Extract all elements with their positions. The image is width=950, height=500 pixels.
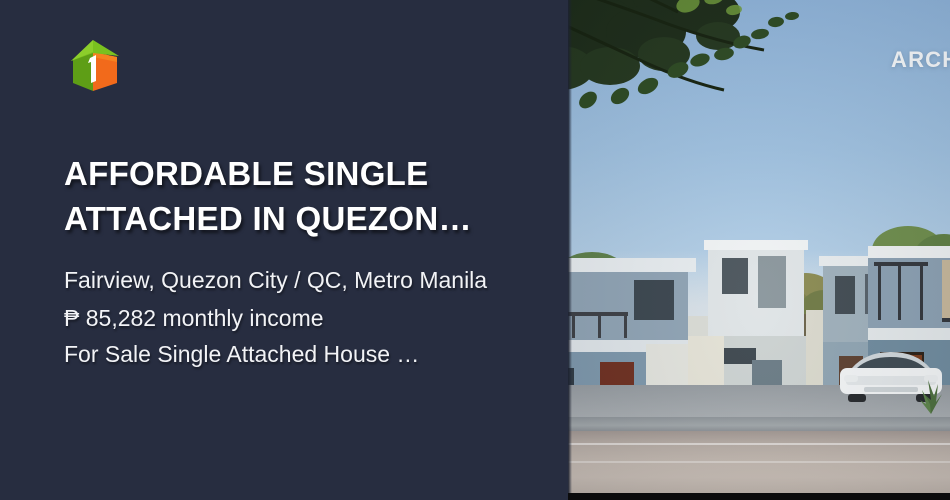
photo-watermark: ARCH xyxy=(891,47,950,73)
listing-description: For Sale Single Attached House … xyxy=(64,337,528,372)
house-logo-icon[interactable] xyxy=(64,38,122,94)
tree-canopy-icon xyxy=(568,0,858,210)
listing-location: Fairview, Quezon City / QC, Metro Manila xyxy=(64,263,524,298)
shrub-plant-icon xyxy=(914,370,948,414)
street-curb xyxy=(568,417,950,431)
property-listing-card[interactable]: AFFORDABLE SINGLE ATTACHED IN QUEZON… Fa… xyxy=(0,0,950,500)
listing-title-line-2: ATTACHED IN QUEZON… xyxy=(64,197,528,242)
property-exterior-photo[interactable]: ARCH xyxy=(568,0,950,500)
listing-meta: Fairview, Quezon City / QC, Metro Manila… xyxy=(64,263,528,372)
street-road xyxy=(568,431,950,493)
listing-price: ₱ 85,282 monthly income xyxy=(64,301,528,336)
listing-info-panel: AFFORDABLE SINGLE ATTACHED IN QUEZON… Fa… xyxy=(0,0,568,500)
photo-left-edge xyxy=(568,0,572,500)
listing-title-line-1: AFFORDABLE SINGLE xyxy=(64,152,528,197)
page-title: AFFORDABLE SINGLE ATTACHED IN QUEZON… xyxy=(64,152,528,242)
photo-bottom-bar xyxy=(568,493,950,500)
